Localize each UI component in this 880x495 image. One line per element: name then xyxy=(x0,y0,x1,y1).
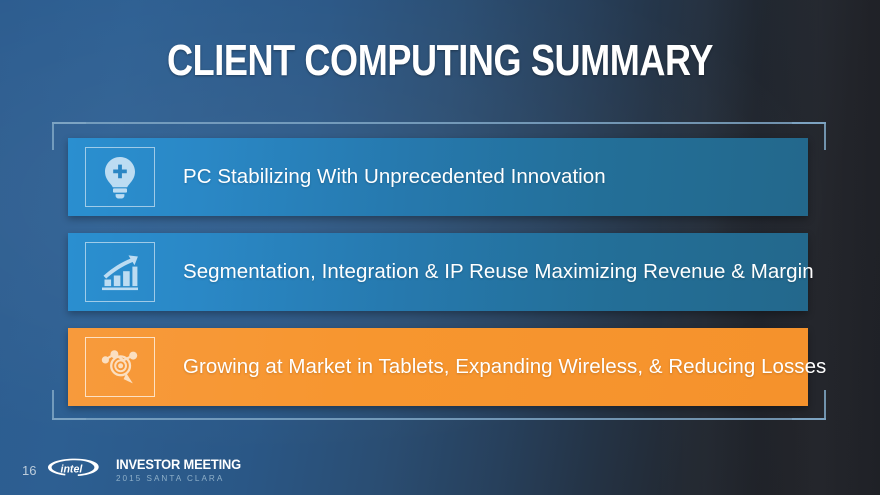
event-subtitle: 2015 SANTA CLARA xyxy=(116,473,246,483)
slide-footer: 16 intel INVESTOR MEETING 2015 SANTA CLA… xyxy=(22,457,252,483)
page-number: 16 xyxy=(22,463,36,478)
event-branding: INVESTOR MEETING 2015 SANTA CLARA xyxy=(116,457,252,483)
svg-text:intel: intel xyxy=(61,464,84,476)
slide-canvas: CLIENT COMPUTING SUMMARY PC Stabilizing … xyxy=(0,0,880,495)
summary-row-3: Growing at Market in Tablets, Expanding … xyxy=(68,328,808,406)
intel-logo: intel xyxy=(46,457,104,483)
summary-row-label: Segmentation, Integration & IP Reuse Max… xyxy=(183,260,814,284)
event-title: INVESTOR MEETING xyxy=(116,457,241,472)
summary-row-label: PC Stabilizing With Unprecedented Innova… xyxy=(183,165,606,189)
summary-row-label: Growing at Market in Tablets, Expanding … xyxy=(183,355,826,379)
page-title: CLIENT COMPUTING SUMMARY xyxy=(79,36,801,86)
frame-line-top xyxy=(52,122,826,124)
summary-row-2: Segmentation, Integration & IP Reuse Max… xyxy=(68,233,808,311)
network-analysis-icon xyxy=(85,337,155,397)
growth-chart-icon xyxy=(85,242,155,302)
lightbulb-plus-icon xyxy=(85,147,155,207)
summary-row-1: PC Stabilizing With Unprecedented Innova… xyxy=(68,138,808,216)
summary-rows: PC Stabilizing With Unprecedented Innova… xyxy=(68,138,808,423)
